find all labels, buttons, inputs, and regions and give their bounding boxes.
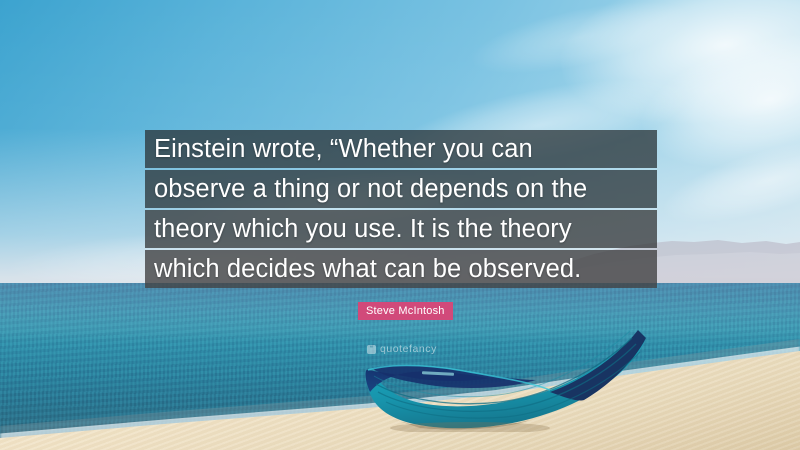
quote-line: observe a thing or not depends on the — [145, 170, 657, 208]
quote-line: theory which you use. It is the theory — [145, 210, 657, 248]
quote-poster: Einstein wrote, “Whether you can observe… — [0, 0, 800, 450]
watermark: “ quotefancy — [367, 344, 437, 355]
author-badge: Steve McIntosh — [358, 302, 453, 320]
quote-line: Einstein wrote, “Whether you can — [145, 130, 657, 168]
rowboat — [360, 322, 650, 432]
watermark-label: quotefancy — [380, 344, 437, 355]
quote-line: which decides what can be observed. — [145, 250, 657, 288]
quote-block: Einstein wrote, “Whether you can observe… — [145, 130, 657, 290]
quotefancy-logo-icon: “ — [367, 345, 376, 354]
